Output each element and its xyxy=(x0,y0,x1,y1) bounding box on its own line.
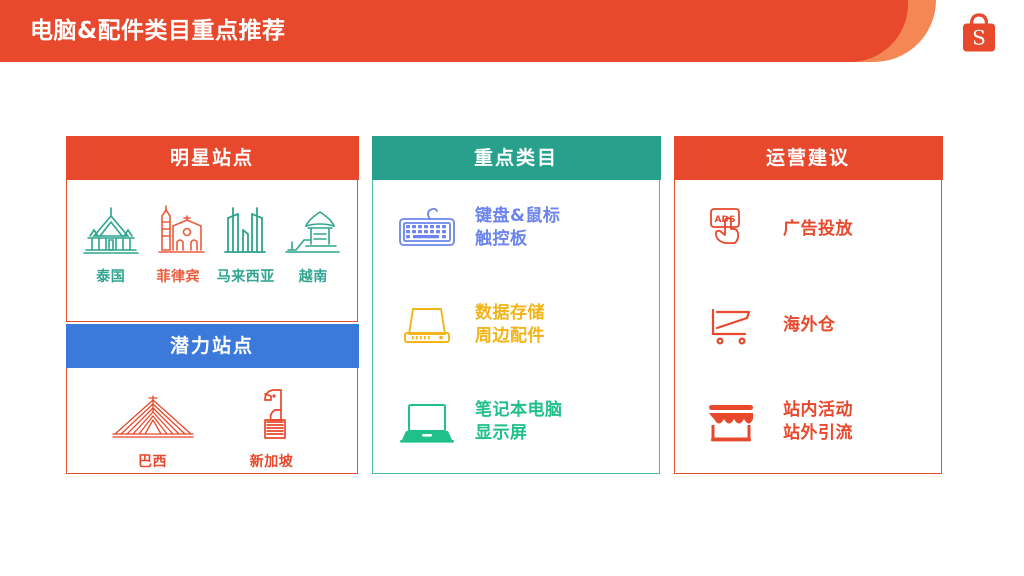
header-banner: 电脑&配件类目重点推荐 S xyxy=(0,0,1024,76)
external-drive-icon xyxy=(379,300,475,350)
panel-potential-sites: 潜力站点 xyxy=(66,324,358,474)
thai-temple-icon xyxy=(82,202,140,260)
list-item-label-line1: 站内活动 xyxy=(783,399,853,422)
potential-sites-list: 巴西 新加坡 xyxy=(67,368,357,471)
panel-star-sites: 明星站点 xyxy=(66,136,358,322)
list-item[interactable]: 笔记本电脑 显示屏 xyxy=(379,397,653,447)
list-item-label: 菲律宾 xyxy=(157,266,201,286)
philippine-church-icon xyxy=(149,202,207,260)
laptop-icon xyxy=(379,397,475,447)
panel-key-categories-title: 重点类目 xyxy=(372,136,661,180)
panel-key-categories-body: 键盘&鼠标 触控板 xyxy=(373,180,659,470)
panel-operation-tips: 运营建议 ADS 广告投放 xyxy=(674,136,942,474)
list-item-label-line1: 键盘&鼠标 xyxy=(475,205,560,228)
list-item[interactable]: 海外仓 xyxy=(679,302,937,350)
panel-star-sites-title: 明星站点 xyxy=(66,136,359,180)
page-title: 电脑&配件类目重点推荐 xyxy=(30,16,286,46)
list-item-label: 广告投放 xyxy=(783,218,853,241)
panel-operation-tips-body: ADS 广告投放 xyxy=(675,180,941,470)
list-item[interactable]: 菲律宾 xyxy=(145,202,213,286)
shopping-cart-icon xyxy=(679,302,783,350)
list-item-label: 泰国 xyxy=(96,266,125,286)
list-item-label: 海外仓 xyxy=(783,314,836,337)
list-item-label-line1: 笔记本电脑 xyxy=(475,399,563,422)
list-item-label-line2: 站外引流 xyxy=(783,422,853,445)
panel-potential-sites-body: 巴西 新加坡 xyxy=(67,368,357,471)
list-item[interactable]: 巴西 xyxy=(110,388,196,471)
list-item[interactable]: 数据存储 周边配件 xyxy=(379,300,653,350)
list-item[interactable]: 越南 xyxy=(280,202,348,286)
list-item-label-line2: 触控板 xyxy=(475,228,560,251)
list-item[interactable]: 马来西亚 xyxy=(212,202,280,286)
vietnam-pagoda-icon xyxy=(284,202,342,260)
panel-star-sites-body: 泰国 xyxy=(67,180,357,286)
petronas-towers-icon xyxy=(217,202,275,260)
panel-potential-sites-title: 潜力站点 xyxy=(66,324,359,368)
operation-tips-list: ADS 广告投放 xyxy=(675,180,941,470)
list-item-label: 键盘&鼠标 触控板 xyxy=(475,205,560,251)
list-item-label-line2: 周边配件 xyxy=(475,325,545,348)
storefront-icon xyxy=(679,397,783,447)
list-item-label-line2: 显示屏 xyxy=(475,422,563,445)
list-item-label: 数据存储 周边配件 xyxy=(475,302,545,348)
key-categories-list: 键盘&鼠标 触控板 xyxy=(373,180,659,470)
list-item-label: 巴西 xyxy=(138,451,167,471)
shopee-bag-logo: S xyxy=(958,11,1000,55)
ads-click-icon: ADS xyxy=(679,203,783,255)
list-item-label-line1: 广告投放 xyxy=(783,218,853,241)
list-item[interactable]: 站内活动 站外引流 xyxy=(679,397,937,447)
list-item-label: 笔记本电脑 显示屏 xyxy=(475,399,563,445)
list-item[interactable]: 泰国 xyxy=(77,202,145,286)
brazil-bridge-icon xyxy=(109,388,197,446)
keyboard-icon xyxy=(379,203,475,253)
list-item[interactable]: 键盘&鼠标 触控板 xyxy=(379,203,653,253)
svg-text:S: S xyxy=(972,26,986,50)
ads-icon-label: ADS xyxy=(715,215,736,225)
list-item-label: 马来西亚 xyxy=(217,266,275,286)
star-sites-list: 泰国 xyxy=(67,180,357,286)
list-item-label: 站内活动 站外引流 xyxy=(783,399,853,445)
list-item[interactable]: ADS 广告投放 xyxy=(679,203,937,255)
panel-key-categories: 重点类目 xyxy=(372,136,660,474)
list-item[interactable]: 新加坡 xyxy=(229,384,315,471)
singapore-merlion-icon xyxy=(241,384,303,446)
list-item-label: 新加坡 xyxy=(250,451,294,471)
list-item-label-line1: 海外仓 xyxy=(783,314,836,337)
panel-operation-tips-title: 运营建议 xyxy=(674,136,943,180)
list-item-label-line1: 数据存储 xyxy=(475,302,545,325)
list-item-label: 越南 xyxy=(299,266,328,286)
